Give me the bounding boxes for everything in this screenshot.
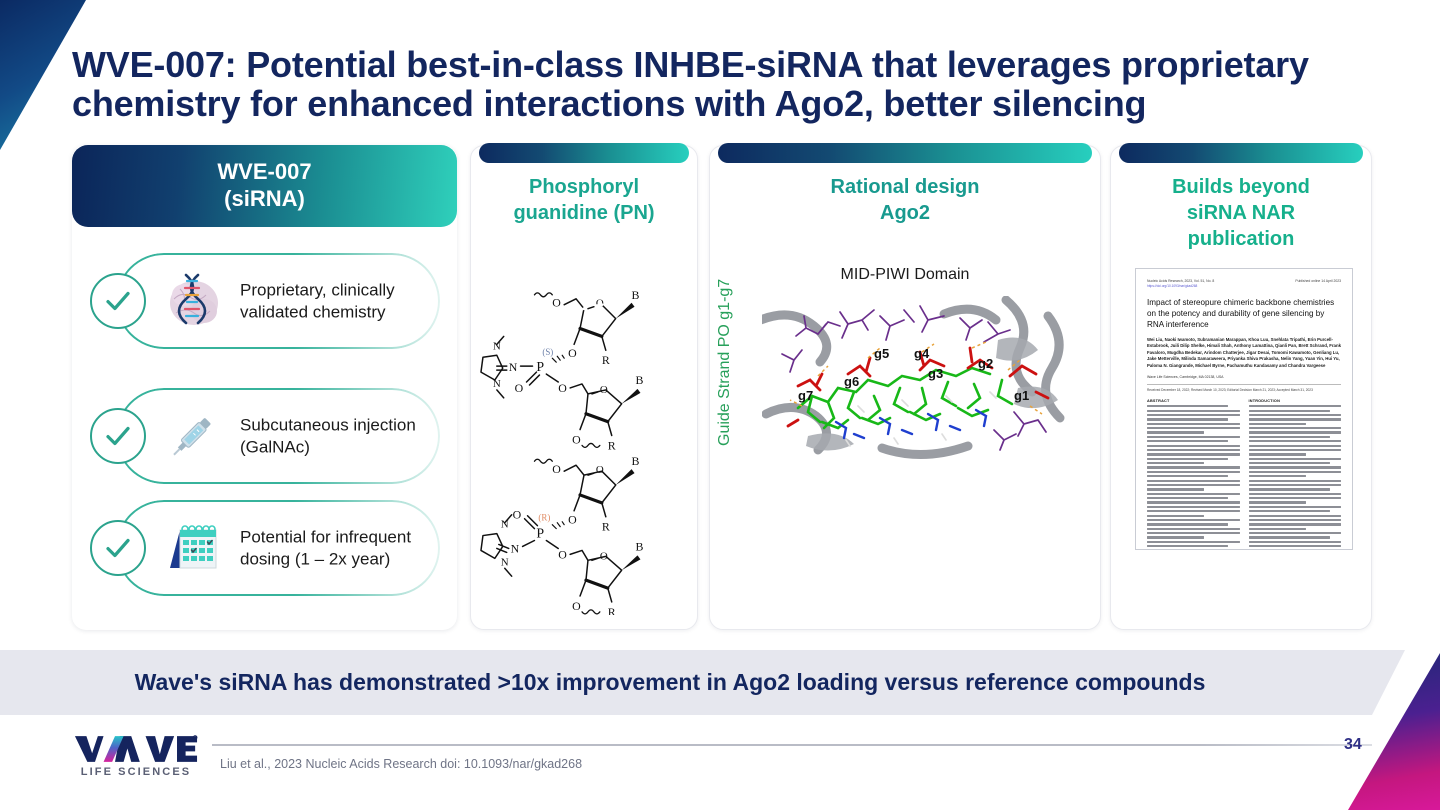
paper-columns: ABSTRACT INTRODUCTION [1147,399,1341,550]
card2-title-line2: guanidine (PN) [481,200,687,226]
paper-intro-column: INTRODUCTION [1249,399,1342,550]
guide-strand-axis-label: Guide Strand PO g1-g7 [716,279,734,446]
svg-text:N: N [493,378,501,390]
svg-text:B: B [632,454,640,468]
svg-text:B: B [636,539,644,553]
dna-protein-icon [160,269,224,333]
ago2-structure-image: g1 g2 g3 g4 g5 g6 g7 [762,296,1082,464]
svg-text:O: O [558,547,567,561]
list-item: Potential for infrequent dosing (1 – 2x … [90,500,440,596]
nucleotide-label-g3: g3 [928,366,943,381]
card-nar-publication: Builds beyond siRNA NAR publication Nucl… [1110,145,1372,630]
check-icon [90,408,146,464]
card1-hero-header: WVE-007 (siRNA) [72,145,457,227]
page-title: WVE-007: Potential best-in-class INHBE-s… [72,46,1332,124]
paper-thumbnail: Nucleic Acids Research, 2023, Vol. 51, N… [1135,268,1353,550]
card3-title-line1: Rational design [720,174,1090,200]
citation-text: Liu et al., 2023 Nucleic Acids Research … [220,757,582,771]
card4-title: Builds beyond siRNA NAR publication [1121,174,1361,252]
paper-title: Impact of stereopure chimeric backbone c… [1147,297,1341,330]
svg-text:R: R [608,605,616,615]
svg-text:N: N [501,556,509,568]
nucleotide-label-g4: g4 [914,346,930,361]
nucleotide-label-g6: g6 [844,374,859,389]
paper-history: Received December 18, 2022; Revised Marc… [1147,384,1341,392]
chemical-structure-diagram: O O B R O [477,256,691,615]
card3-title: Rational design Ago2 [720,174,1090,226]
paper-intro-body [1249,405,1342,550]
card1-hero-line2: (siRNA) [224,186,305,213]
paper-abstract-heading: ABSTRACT [1147,399,1240,403]
card4-title-line1: Builds beyond [1121,174,1361,200]
paper-header-meta: Nucleic Acids Research, 2023, Vol. 51, N… [1147,279,1341,283]
nucleotide-label-g5: g5 [874,346,889,361]
paper-journal-ref: Nucleic Acids Research, 2023, Vol. 51, N… [1147,279,1214,283]
calendar-icon [160,516,224,580]
svg-text:O: O [568,346,577,360]
svg-text:O: O [513,508,522,522]
check-icon [90,520,146,576]
stereo-label-r: (R) [538,513,550,523]
paper-intro-heading: INTRODUCTION [1249,399,1342,403]
nucleotide-label-g1: g1 [1014,388,1029,403]
card4-title-line2: siRNA NAR [1121,200,1361,226]
svg-text:O: O [552,296,561,310]
wave-life-sciences-logo: LIFE SCIENCES [74,734,198,778]
paper-abstract-column: ABSTRACT [1147,399,1240,550]
svg-text:B: B [636,373,644,387]
key-message-banner: Wave's siRNA has demonstrated >10x impro… [0,650,1405,715]
card2-title-line1: Phosphoryl [481,174,687,200]
svg-text:O: O [515,381,524,395]
card4-header-bar [1119,143,1363,163]
paper-abstract-body [1147,405,1240,550]
page-number: 34 [1344,736,1362,754]
svg-text:O: O [558,381,567,395]
svg-text:O: O [572,599,581,613]
svg-text:P: P [536,360,544,375]
svg-text:O: O [568,513,577,527]
list-item-label: Subcutaneous injection (GalNAc) [240,414,440,458]
paper-pub-date: Published online 14 April 2023 [1295,279,1341,283]
syringe-icon [160,404,224,468]
svg-text:O: O [596,464,604,476]
list-item: Proprietary, clinically validated chemis… [90,253,440,349]
svg-text:O: O [600,384,608,396]
svg-text:R: R [608,438,616,452]
mid-piwi-domain-label: MID-PIWI Domain [710,266,1100,284]
svg-text:R: R [602,520,610,534]
list-item: Subcutaneous injection (GalNAc) [90,388,440,484]
svg-text:N: N [509,360,518,374]
logo-subtitle: LIFE SCIENCES [74,766,198,778]
nucleotide-label-g2: g2 [978,356,993,371]
key-message-text: Wave's siRNA has demonstrated >10x impro… [0,669,1340,696]
wave-wordmark-icon [74,734,198,764]
svg-text:O: O [572,432,581,446]
card2-title: Phosphoryl guanidine (PN) [481,174,687,226]
stereo-label-s: (S) [542,347,553,357]
card-rational-design-ago2: Rational design Ago2 MID-PIWI Domain Gui… [709,145,1101,630]
svg-text:P: P [536,527,544,542]
svg-text:N: N [511,541,520,555]
card2-header-bar [479,143,689,163]
svg-text:O: O [600,550,608,562]
nucleotide-label-g7: g7 [798,388,813,403]
card1-hero-line1: WVE-007 [217,159,311,186]
svg-text:B: B [632,288,640,302]
check-icon [90,273,146,329]
card3-title-line2: Ago2 [720,200,1090,226]
paper-authors: Wei Liu, Naoki Iwamoto, Subramanian Mara… [1147,337,1341,369]
svg-text:O: O [552,462,561,476]
card-wve-007: WVE-007 (siRNA) [72,145,457,630]
card-phosphoryl-guanidine: Phosphoryl guanidine (PN) O O [470,145,698,630]
paper-doi: https://doi.org/10.1093/nar/gkad268 [1147,284,1341,288]
card4-title-line3: publication [1121,226,1361,252]
card-strip: WVE-007 (siRNA) [72,145,1372,630]
footer-divider [212,744,1372,746]
list-item-label: Proprietary, clinically validated chemis… [240,279,440,323]
paper-affiliation: Wave Life Sciences, Cambridge, MA 02138,… [1147,375,1341,379]
card3-header-bar [718,143,1092,163]
svg-text:R: R [602,353,610,367]
list-item-label: Potential for infrequent dosing (1 – 2x … [240,526,440,570]
